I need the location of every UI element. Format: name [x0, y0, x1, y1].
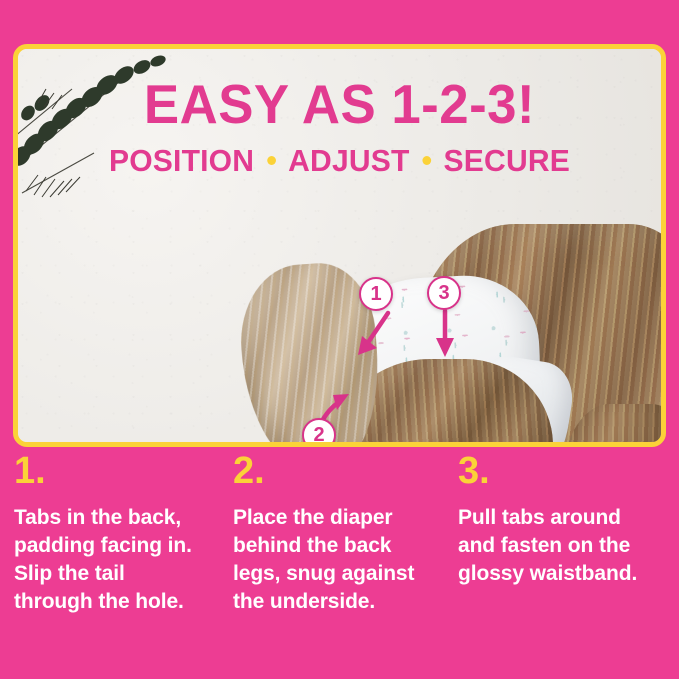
step-item-2: 2. Place the diaper behind the back legs… [221, 452, 440, 679]
hero-background: EASY AS 1-2-3! POSITION ADJUST SECURE [18, 49, 661, 442]
bullet-dot-icon [422, 156, 431, 165]
product-photo [18, 179, 661, 442]
bullet-dot-icon [267, 156, 276, 165]
step-number-3: 3. [458, 452, 649, 490]
callout-badge-1[interactable]: 1 [359, 277, 393, 311]
hero-panel: EASY AS 1-2-3! POSITION ADJUST SECURE [13, 44, 666, 447]
step-text-2: Place the diaper behind the back legs, s… [233, 504, 424, 616]
step-item-1: 1. Tabs in the back, padding facing in. … [14, 452, 221, 679]
step-text-3: Pull tabs around and fasten on the gloss… [458, 504, 649, 588]
step-text-1: Tabs in the back, padding facing in. Sli… [14, 504, 205, 616]
page-title: EASY AS 1-2-3! [31, 77, 648, 132]
subtitle-word-position: POSITION [109, 145, 254, 176]
steps-section: 1. Tabs in the back, padding facing in. … [0, 452, 679, 679]
subtitle-word-adjust: ADJUST [288, 145, 409, 176]
step-number-2: 2. [233, 452, 424, 490]
step-item-3: 3. Pull tabs around and fasten on the gl… [440, 452, 665, 679]
callout-badge-3[interactable]: 3 [427, 276, 461, 310]
subtitle: POSITION ADJUST SECURE [28, 145, 652, 176]
step-number-1: 1. [14, 452, 205, 490]
subtitle-word-secure: SECURE [444, 145, 570, 176]
